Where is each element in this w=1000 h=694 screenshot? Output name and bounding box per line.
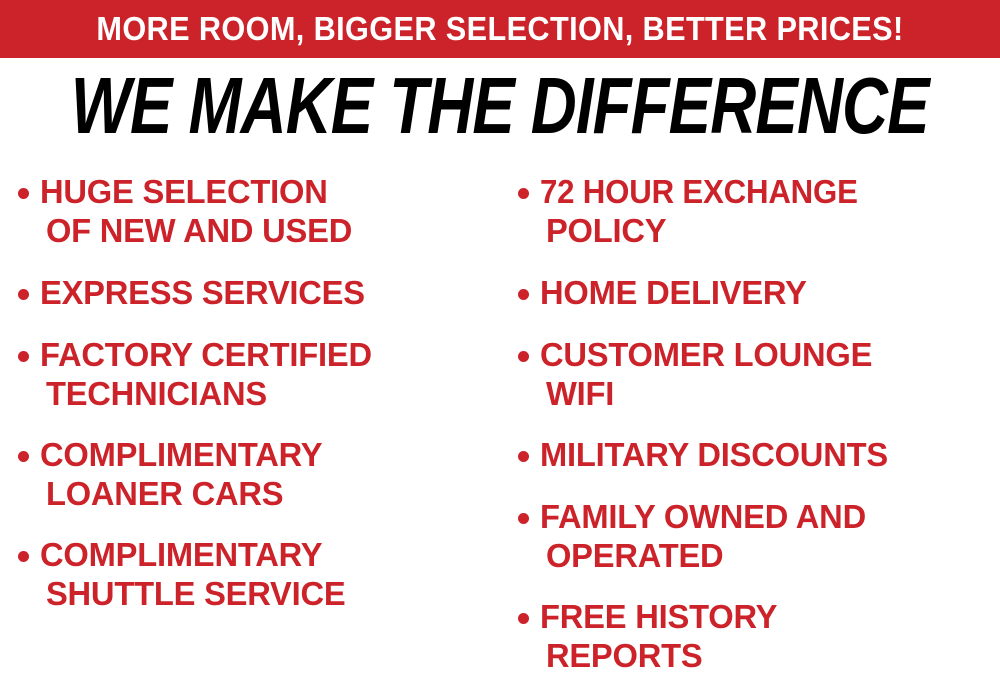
list-item-line1: HUGE SELECTION (40, 173, 328, 210)
list-item-line1: EXPRESS SERVICES (40, 274, 365, 311)
bullet-dot-icon (518, 188, 529, 199)
list-item-label: HUGE SELECTION OF NEW AND USED (40, 172, 352, 250)
list-item-label: HOME DELIVERY (540, 273, 807, 312)
list-item-line1: COMPLIMENTARY (40, 536, 322, 573)
list-item-label: CUSTOMER LOUNGE WIFI (540, 335, 872, 413)
list-item: FACTORY CERTIFIED TECHNICIANS (18, 335, 375, 413)
bullet-dot-icon (18, 188, 29, 199)
list-item-line1: HOME DELIVERY (540, 274, 807, 311)
list-item: EXPRESS SERVICES (18, 273, 368, 312)
list-item: COMPLIMENTARY SHUTTLE SERVICE (18, 535, 349, 613)
bullet-dot-icon (18, 551, 29, 562)
bullet-dot-icon (518, 451, 529, 462)
list-item-line2: OF NEW AND USED (40, 211, 352, 250)
list-item: CUSTOMER LOUNGE WIFI (518, 335, 876, 413)
list-item-line2: TECHNICIANS (40, 374, 372, 413)
list-item-label: FREE HISTORY REPORTS (540, 597, 777, 675)
list-item-line1: FACTORY CERTIFIED (40, 336, 372, 373)
list-item: COMPLIMENTARY LOANER CARS (18, 435, 325, 513)
list-item-label: COMPLIMENTARY SHUTTLE SERVICE (40, 535, 346, 613)
bullet-dot-icon (18, 351, 29, 362)
list-item-line1: FAMILY OWNED AND (540, 498, 866, 535)
list-item-line1: MILITARY DISCOUNTS (540, 436, 888, 473)
list-item-line1: CUSTOMER LOUNGE (540, 336, 872, 373)
list-item-line2: POLICY (540, 211, 873, 250)
list-item: MILITARY DISCOUNTS (518, 435, 891, 474)
list-item: FREE HISTORY REPORTS (518, 597, 780, 675)
benefits-column-right: 72 HOUR EXCHANGE POLICY HOME DELIVERY CU… (500, 160, 1000, 694)
page-title: WE MAKE THE DIFFERENCE (0, 66, 1000, 140)
list-item-line1: COMPLIMENTARY (40, 436, 322, 473)
list-item-label: FAMILY OWNED AND OPERATED (540, 497, 866, 575)
list-item-label: FACTORY CERTIFIED TECHNICIANS (40, 335, 372, 413)
bullet-dot-icon (518, 513, 529, 524)
page-title-text: WE MAKE THE DIFFERENCE (71, 66, 929, 146)
list-item-label: MILITARY DISCOUNTS (540, 435, 888, 474)
bullet-dot-icon (18, 289, 29, 300)
list-item-line2: WIFI (540, 374, 872, 413)
benefits-column-left: HUGE SELECTION OF NEW AND USED EXPRESS S… (0, 160, 500, 694)
list-item-line2: REPORTS (540, 636, 777, 675)
top-banner: MORE ROOM, BIGGER SELECTION, BETTER PRIC… (0, 0, 1000, 58)
bullet-dot-icon (518, 613, 529, 624)
list-item-label: 72 HOUR EXCHANGE POLICY (540, 172, 873, 250)
benefits-columns: HUGE SELECTION OF NEW AND USED EXPRESS S… (0, 160, 1000, 694)
bullet-dot-icon (518, 351, 529, 362)
dealership-benefits-poster: MORE ROOM, BIGGER SELECTION, BETTER PRIC… (0, 0, 1000, 694)
list-item-line1: FREE HISTORY (540, 598, 777, 635)
list-item-line2: LOANER CARS (40, 474, 322, 513)
bullet-dot-icon (18, 451, 29, 462)
list-item-line2: SHUTTLE SERVICE (40, 574, 346, 613)
list-item-label: EXPRESS SERVICES (40, 273, 365, 312)
list-item-line2: OPERATED (540, 536, 866, 575)
list-item-line1: 72 HOUR EXCHANGE (540, 172, 858, 211)
list-item-label: COMPLIMENTARY LOANER CARS (40, 435, 322, 513)
list-item: 72 HOUR EXCHANGE POLICY (518, 172, 876, 250)
banner-headline-text: MORE ROOM, BIGGER SELECTION, BETTER PRIC… (96, 12, 903, 46)
list-item: FAMILY OWNED AND OPERATED (518, 497, 869, 575)
bullet-dot-icon (518, 289, 529, 300)
list-item: HOME DELIVERY (518, 273, 809, 312)
list-item: HUGE SELECTION OF NEW AND USED (18, 172, 355, 250)
